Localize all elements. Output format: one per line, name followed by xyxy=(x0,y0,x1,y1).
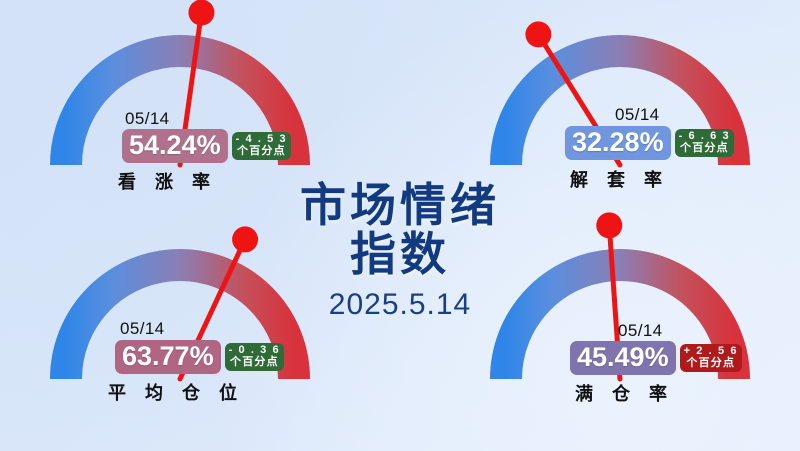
gauge-bullish-rate: 05/1454.24%- 4 . 5 3个百分点看 涨 率 xyxy=(30,2,330,192)
gauge-readout: 05/1463.77%- 0 . 3 6个百分点平 均 仓 位 xyxy=(30,216,330,406)
gauge-unwind-rate: 05/1432.28%- 6 . 6 3个百分点解 套 率 xyxy=(470,2,770,192)
gauge-delta-value: + 2 . 5 6 xyxy=(684,346,738,357)
gauge-metric-name: 平 均 仓 位 xyxy=(108,379,244,405)
gauge-readout: 05/1432.28%- 6 . 6 3个百分点解 套 率 xyxy=(470,2,770,192)
gauge-delta-unit: 个百分点 xyxy=(229,357,281,368)
gauge-full-position-rate: 05/1445.49%+ 2 . 5 6个百分点满 仓 率 xyxy=(470,216,770,406)
gauge-delta-value: - 6 . 6 3 xyxy=(679,131,731,142)
gauge-delta-badge: + 2 . 5 6个百分点 xyxy=(680,344,742,371)
infographic-canvas: 05/1454.24%- 4 . 5 3个百分点看 涨 率05/1432.28%… xyxy=(0,0,800,451)
gauge-metric-name: 看 涨 率 xyxy=(118,168,217,194)
gauge-date-label: 05/14 xyxy=(618,321,663,341)
gauge-value: 54.24% xyxy=(122,129,228,163)
gauge-delta-unit: 个百分点 xyxy=(679,143,731,154)
gauge-value-row: 54.24%- 4 . 5 3个百分点 xyxy=(122,129,291,163)
gauge-date-label: 05/14 xyxy=(615,105,660,125)
gauge-value-row: 63.77%- 0 . 3 6个百分点 xyxy=(115,340,284,374)
gauge-date-label: 05/14 xyxy=(120,319,165,339)
gauge-metric-name: 解 套 率 xyxy=(570,166,669,192)
gauge-delta-unit: 个百分点 xyxy=(684,358,738,369)
gauge-delta-value: - 0 . 3 6 xyxy=(229,345,281,356)
gauge-value: 63.77% xyxy=(115,340,221,374)
gauge-value: 45.49% xyxy=(570,341,676,375)
gauge-value-row: 45.49%+ 2 . 5 6个百分点 xyxy=(570,341,742,375)
gauge-delta-unit: 个百分点 xyxy=(236,146,288,157)
gauge-average-position: 05/1463.77%- 0 . 3 6个百分点平 均 仓 位 xyxy=(30,216,330,406)
gauge-value: 32.28% xyxy=(565,126,671,160)
gauge-date-label: 05/14 xyxy=(125,109,170,129)
gauge-readout: 05/1454.24%- 4 . 5 3个百分点看 涨 率 xyxy=(30,2,330,192)
gauge-delta-badge: - 6 . 6 3个百分点 xyxy=(675,129,735,156)
gauge-delta-value: - 4 . 5 3 xyxy=(236,134,288,145)
gauge-readout: 05/1445.49%+ 2 . 5 6个百分点满 仓 率 xyxy=(470,216,770,406)
gauge-metric-name: 满 仓 率 xyxy=(575,380,674,406)
gauge-delta-badge: - 0 . 3 6个百分点 xyxy=(225,343,285,370)
gauge-value-row: 32.28%- 6 . 6 3个百分点 xyxy=(565,126,734,160)
gauge-delta-badge: - 4 . 5 3个百分点 xyxy=(232,132,292,159)
